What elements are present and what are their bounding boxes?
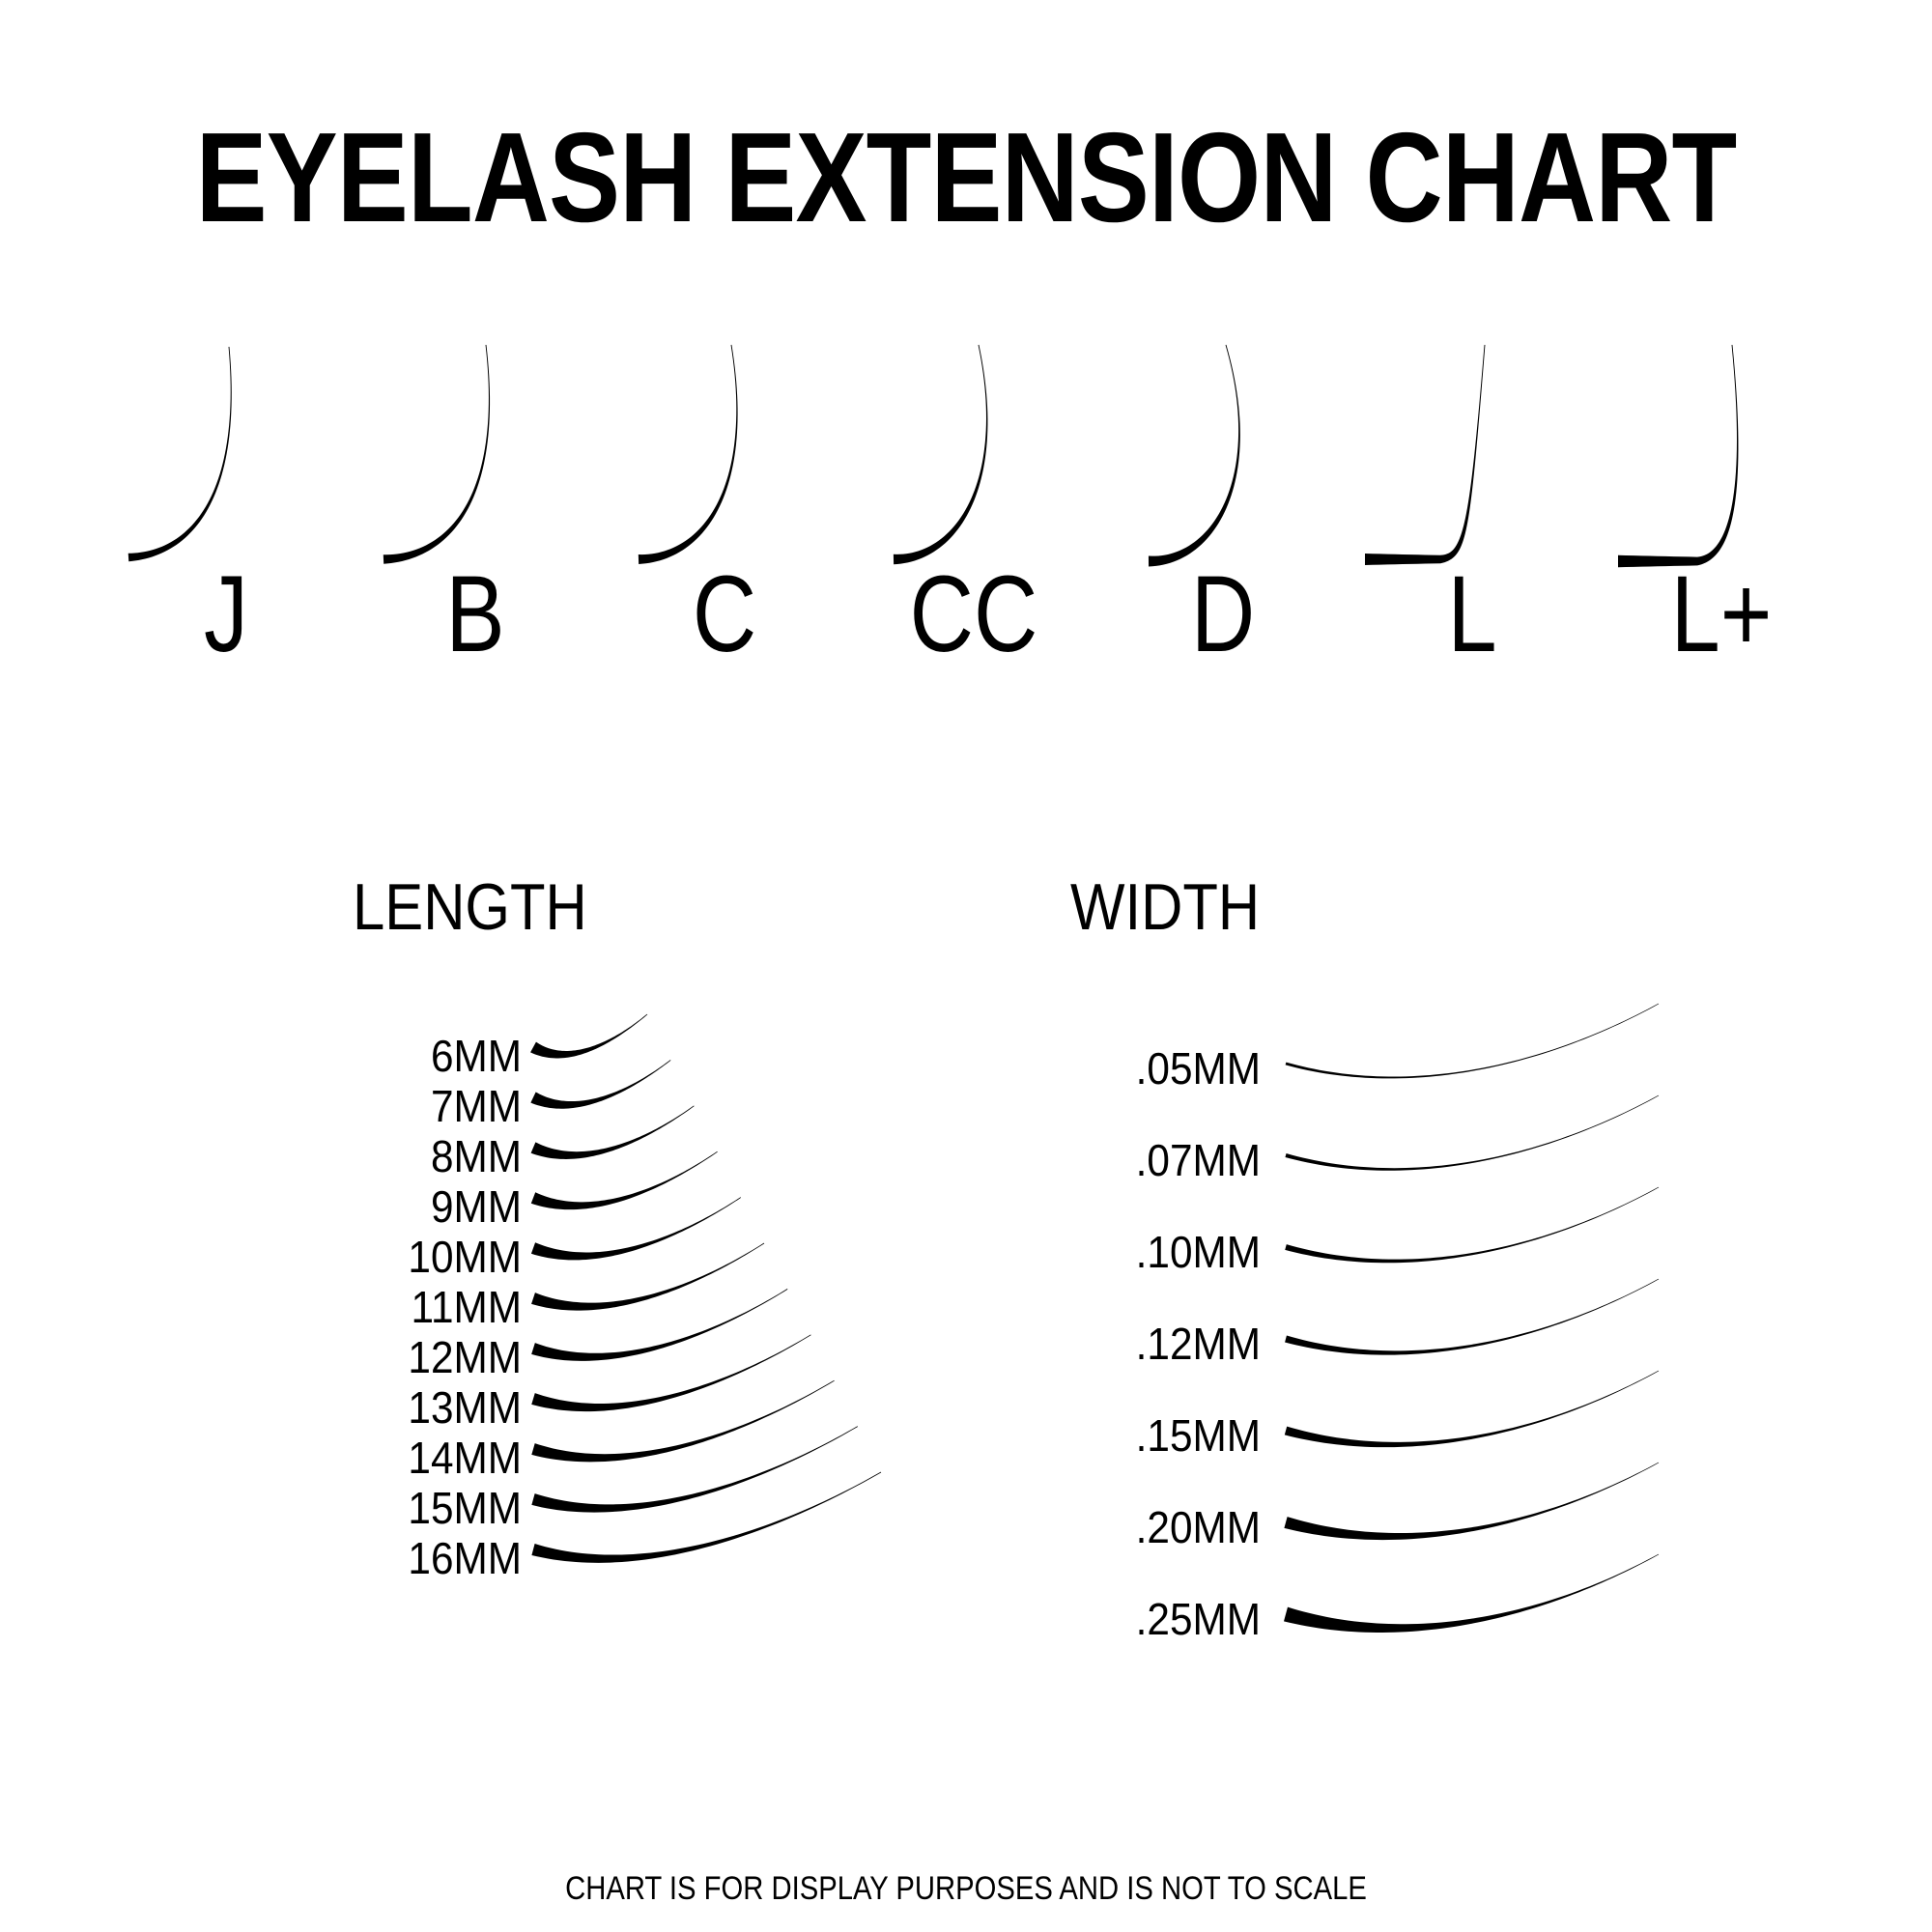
curl-type-label: C (622, 560, 827, 668)
width-label: .12MM (1069, 1321, 1261, 1366)
curl-type-c: C (600, 343, 849, 729)
length-label: 7MM (335, 1084, 522, 1128)
curl-type-label: B (373, 560, 578, 668)
curl-type-label: L+ (1619, 560, 1824, 668)
length-section-heading: LENGTH (353, 874, 587, 940)
length-list: 6MM7MM8MM9MM10MM11MM12MM13MM14MM15MM16MM (319, 1034, 918, 1439)
width-label: .10MM (1069, 1230, 1261, 1274)
curl-type-label: J (124, 560, 328, 668)
curl-type-label: L (1370, 560, 1575, 668)
curl-lash-icon (351, 343, 600, 575)
curl-lash-icon (600, 343, 849, 575)
curl-lash-icon (101, 343, 351, 575)
length-label: 11MM (335, 1285, 522, 1329)
width-lash-icon (1280, 1539, 1695, 1693)
width-label: .07MM (1069, 1138, 1261, 1182)
width-label: .25MM (1069, 1597, 1261, 1641)
curl-lash-icon (849, 343, 1098, 575)
width-label: .15MM (1069, 1413, 1261, 1458)
length-label: 13MM (335, 1385, 522, 1430)
curl-type-cc: CC (849, 343, 1098, 729)
length-label: 9MM (335, 1184, 522, 1229)
length-label: 15MM (335, 1486, 522, 1530)
curl-type-l: L (1348, 343, 1597, 729)
footer-disclaimer: CHART IS FOR DISPLAY PURPOSES AND IS NOT… (135, 1872, 1797, 1905)
width-label: .05MM (1069, 1046, 1261, 1091)
length-label: 14MM (335, 1435, 522, 1480)
width-row: .25MM (1053, 1579, 1671, 1671)
curl-type-label: CC (871, 560, 1076, 668)
curl-lash-icon (1597, 343, 1846, 575)
curl-type-b: B (351, 343, 600, 729)
curl-type-j: J (101, 343, 351, 729)
curl-type-label: D (1121, 560, 1325, 668)
curl-type-d: D (1098, 343, 1348, 729)
length-row: 16MM (319, 1536, 918, 1586)
curl-lash-icon (1348, 343, 1597, 575)
length-lash-icon (522, 1515, 927, 1660)
length-label: 8MM (335, 1134, 522, 1179)
width-label: .20MM (1069, 1505, 1261, 1549)
page-title: EYELASH EXTENSION CHART (155, 114, 1777, 241)
width-list: .05MM.07MM.10MM.12MM.15MM.20MM.25MM (1053, 1029, 1671, 1492)
length-label: 10MM (335, 1235, 522, 1279)
curl-lash-icon (1098, 343, 1348, 575)
length-label: 6MM (335, 1034, 522, 1078)
curl-type-row: JBCCCDLL+ (101, 343, 1840, 729)
eyelash-extension-chart: EYELASH EXTENSION CHART JBCCCDLL+ LENGTH… (0, 0, 1932, 1932)
curl-type-lplus: L+ (1597, 343, 1846, 729)
length-label: 12MM (335, 1335, 522, 1379)
width-section-heading: WIDTH (1070, 874, 1260, 940)
length-label: 16MM (335, 1536, 522, 1580)
